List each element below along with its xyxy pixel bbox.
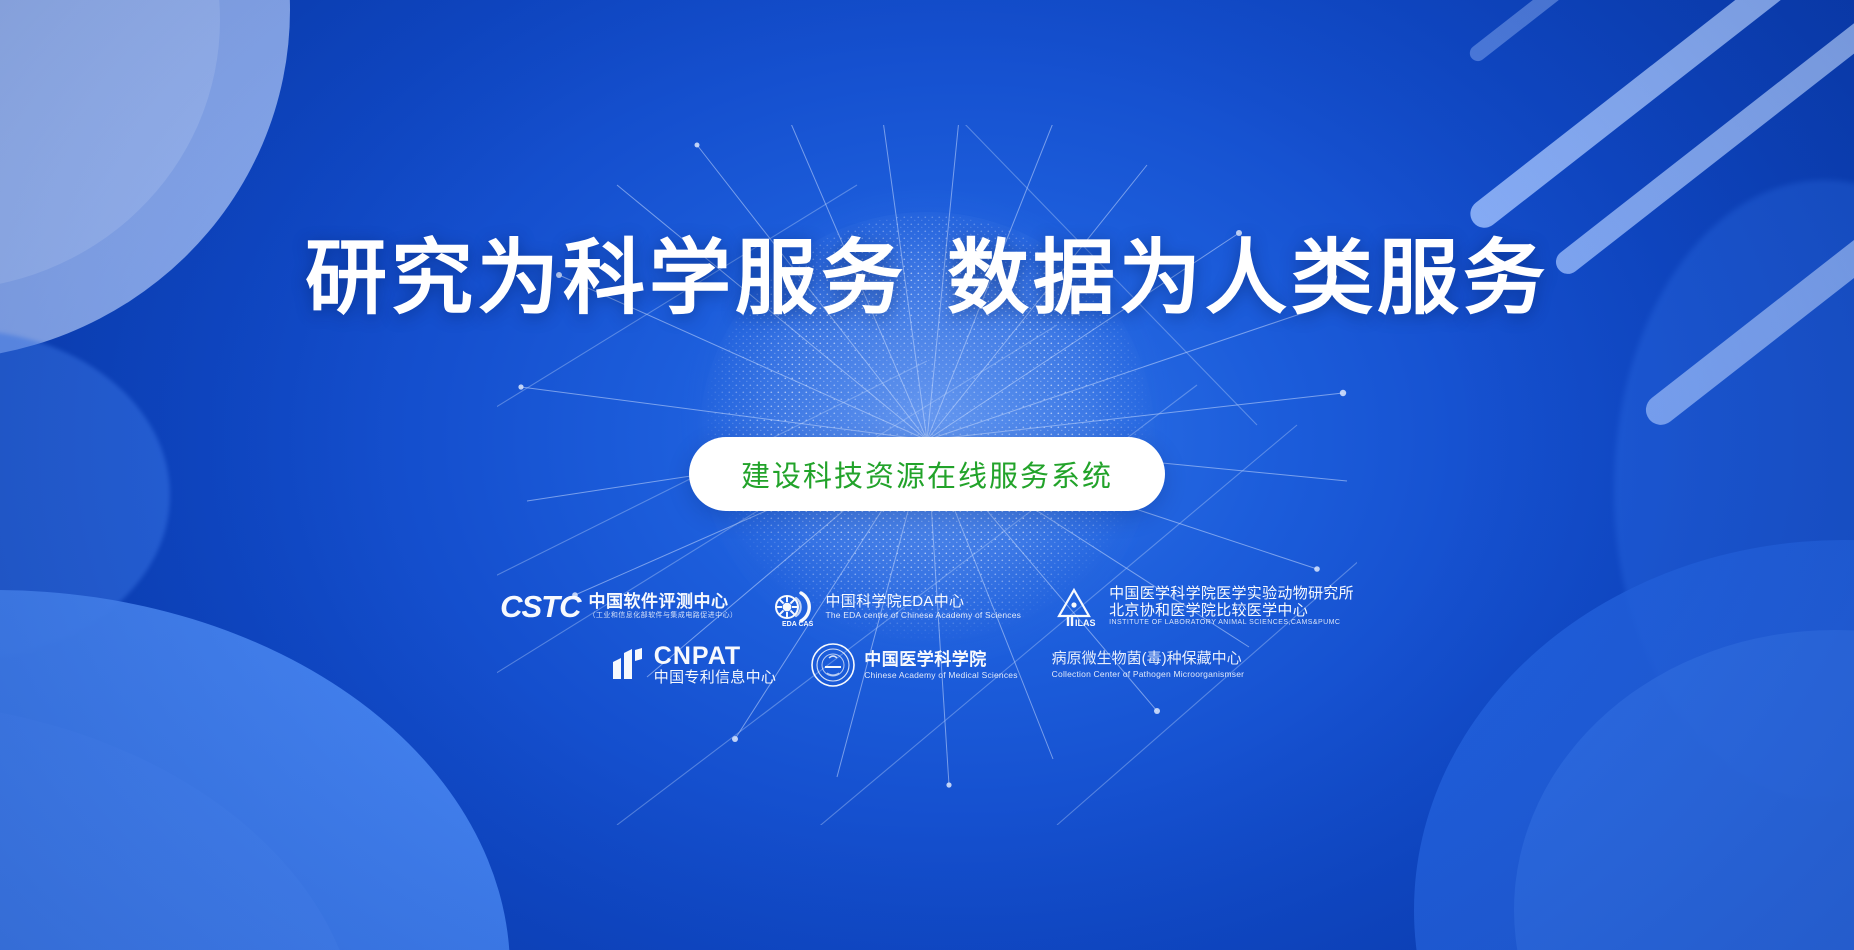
partner-logo-ilas[interactable]: ILAS 中国医学科学院医学实验动物研究所 北京协和医学院比较医学中心 INST… — [1055, 585, 1354, 628]
partner-logo-cstc[interactable]: CSTC 中国软件评测中心 （工业和信息化部软件与集成电路促进中心） — [500, 591, 737, 622]
eda-cas-logo-text: 中国科学院EDA中心 The EDA centre of Chinese Aca… — [825, 593, 1021, 621]
ilas-name-cn-line1: 中国医学科学院医学实验动物研究所 — [1109, 585, 1354, 602]
pathogen-name-cn: 病原微生物菌(毒)种保藏中心 — [1052, 650, 1242, 668]
partner-logo-cams[interactable]: 中国医学科学院 Chinese Academy of Medical Scien… — [810, 642, 1017, 688]
subtitle-pill-label: 建设科技资源在线服务系统 — [741, 453, 1113, 495]
cstc-logo-text: 中国软件评测中心 （工业和信息化部软件与集成电路促进中心） — [588, 592, 737, 621]
page-title: 研究为科学服务数据为人类服务 — [305, 238, 1549, 320]
eda-cas-logo-icon: EDA CAS — [771, 587, 817, 627]
eda-cas-mark-label: EDA CAS — [782, 621, 814, 627]
headline-left: 研究为科学服务 — [305, 233, 907, 324]
cams-name-cn: 中国医学科学院 — [864, 650, 1017, 670]
ilas-logo-text: 中国医学科学院医学实验动物研究所 北京协和医学院比较医学中心 INSTITUTE… — [1109, 585, 1354, 628]
cams-logo-text: 中国医学科学院 Chinese Academy of Medical Scien… — [864, 650, 1017, 681]
partner-logo-eda-cas[interactable]: EDA CAS 中国科学院EDA中心 The EDA centre of Chi… — [771, 587, 1021, 627]
ilas-logo-icon: ILAS — [1055, 586, 1101, 628]
partner-logo-cnpat[interactable]: CNPAT 中国专利信息中心 — [610, 644, 776, 686]
cnpat-logo-text: CNPAT 中国专利信息中心 — [654, 644, 776, 686]
cstc-wordmark-icon: CSTC — [500, 591, 580, 622]
cams-name-en: Chinese Academy of Medical Sciences — [864, 670, 1017, 681]
cnpat-name-cn: 中国专利信息中心 — [654, 669, 776, 686]
eda-cas-name-en: The EDA centre of Chinese Academy of Sci… — [825, 610, 1021, 621]
cnpat-logo-icon — [610, 648, 646, 682]
banner-content: 研究为科学服务数据为人类服务 建设科技资源在线服务系统 CSTC 中国软件评测中… — [0, 0, 1854, 950]
partner-logo-pathogen-center[interactable]: 病原微生物菌(毒)种保藏中心 Collection Center of Path… — [1052, 650, 1245, 680]
partner-logos: CSTC 中国软件评测中心 （工业和信息化部软件与集成电路促进中心） — [547, 585, 1307, 688]
partner-logo-row-2: CNPAT 中国专利信息中心 中国医学科学院 — [610, 642, 1244, 688]
cstc-name-cn: 中国软件评测中心 — [588, 592, 737, 612]
headline-right: 数据为人类服务 — [947, 233, 1549, 324]
partner-logo-row-1: CSTC 中国软件评测中心 （工业和信息化部软件与集成电路促进中心） — [500, 585, 1354, 628]
cstc-name-sub: （工业和信息化部软件与集成电路促进中心） — [588, 612, 737, 621]
cams-seal-icon — [810, 642, 856, 688]
ilas-name-cn-line2: 北京协和医学院比较医学中心 — [1109, 602, 1354, 619]
subtitle-pill[interactable]: 建设科技资源在线服务系统 — [689, 437, 1165, 511]
hero-banner: 研究为科学服务数据为人类服务 建设科技资源在线服务系统 CSTC 中国软件评测中… — [0, 0, 1854, 950]
pathogen-name-en: Collection Center of Pathogen Microorgan… — [1052, 669, 1245, 680]
cnpat-wordmark: CNPAT — [654, 644, 776, 669]
ilas-name-en: INSTITUTE OF LABORATORY ANIMAL SCIENCES,… — [1109, 619, 1354, 628]
ilas-mark-label: ILAS — [1075, 618, 1096, 628]
eda-cas-name-cn: 中国科学院EDA中心 — [825, 593, 1021, 610]
